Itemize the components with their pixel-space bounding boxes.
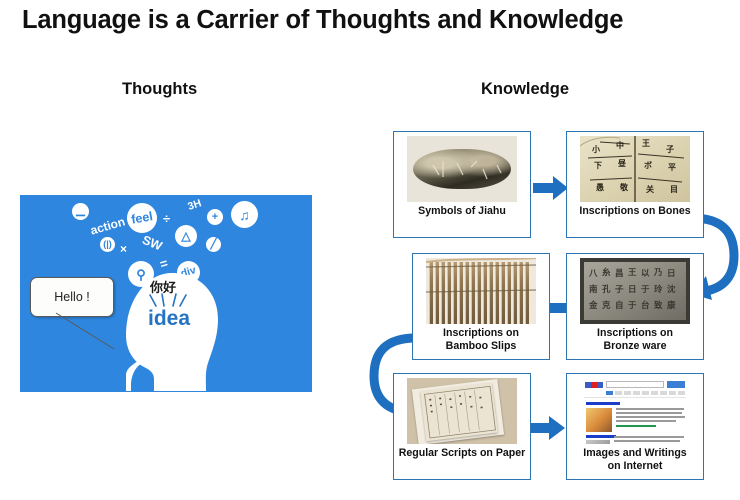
- search-input[interactable]: [606, 381, 664, 388]
- minus-circle-icon: ⚊: [72, 203, 89, 220]
- tab-extra-2[interactable]: [669, 391, 676, 395]
- tab-news[interactable]: [615, 391, 622, 395]
- card-regular-scripts-on-paper[interactable]: Regular Scripts on Paper: [393, 373, 531, 480]
- internet-thumbnail: [580, 378, 690, 444]
- card-caption: Symbols of Jiahu: [394, 205, 530, 218]
- multiply-symbol: ×: [120, 243, 127, 255]
- speech-bubble: Hello !: [30, 277, 114, 317]
- word-3h: 3H: [187, 198, 203, 212]
- card-inscriptions-on-bronze-ware[interactable]: 八 糸 昌 王 以 乃 日 南 孔 子 日 于 玲 沈 金 克 自 于 台 致 …: [566, 253, 704, 360]
- word-action: action: [89, 215, 126, 236]
- card-images-and-writings-on-internet[interactable]: Images and Writings on Internet: [566, 373, 704, 480]
- knowledge-heading: Knowledge: [481, 80, 569, 99]
- lamp-icon: △: [175, 225, 197, 247]
- card-inscriptions-on-bamboo-slips[interactable]: Inscriptions on Bamboo Slips: [412, 253, 550, 360]
- card-caption-line1: Inscriptions on: [413, 327, 549, 340]
- tab-extra-1[interactable]: [660, 391, 667, 395]
- card-caption: Inscriptions on Bamboo Slips: [413, 327, 549, 352]
- card-caption-line2: on Internet: [567, 460, 703, 473]
- card-caption: Inscriptions on Bones: [567, 205, 703, 218]
- arrow-paper-to-internet: [529, 414, 567, 442]
- jiahu-thumbnail: [407, 136, 517, 202]
- page-title: Language is a Carrier of Thoughts and Kn…: [22, 6, 623, 35]
- word-sw: SW: [140, 234, 163, 253]
- head-idea-label: idea: [148, 307, 190, 331]
- card-caption-line2: Bronze ware: [567, 340, 703, 353]
- pen-icon: ╱: [206, 237, 221, 252]
- word-feel: feel: [125, 201, 160, 236]
- tab-web[interactable]: [606, 391, 613, 395]
- card-caption: Images and Writings on Internet: [567, 447, 703, 472]
- slide-canvas: Language is a Carrier of Thoughts and Kn…: [0, 0, 740, 500]
- card-caption-line1: Images and Writings: [567, 447, 703, 460]
- bronze-thumbnail: 八 糸 昌 王 以 乃 日 南 孔 子 日 于 玲 沈 金 克 自 于 台 致 …: [580, 258, 690, 324]
- result-tabs[interactable]: [606, 391, 685, 395]
- music-note-icon: ♫: [231, 201, 258, 228]
- tab-video[interactable]: [633, 391, 640, 395]
- equals-symbol: =: [158, 256, 169, 271]
- tab-more[interactable]: [651, 391, 658, 395]
- bones-thumbnail: 小 中 王 子 下 昼 ボ 平 愚 敬 关 目: [580, 136, 690, 202]
- card-caption-line1: Inscriptions on: [567, 327, 703, 340]
- paper-thumbnail: [407, 378, 517, 444]
- card-caption: Inscriptions on Bronze ware: [567, 327, 703, 352]
- thoughts-illustration: ⚊ action feel ÷ 3H + ♫ △ SW × (|) ╱ = ⚲ …: [20, 195, 312, 392]
- divide-symbol: ÷: [163, 212, 170, 225]
- card-caption-line2: Bamboo Slips: [413, 340, 549, 353]
- search-logo-icon: [585, 382, 603, 388]
- card-caption: Regular Scripts on Paper: [387, 447, 537, 460]
- tab-images[interactable]: [624, 391, 631, 395]
- clip-icon: (|): [100, 237, 115, 252]
- plus-circle-icon: +: [207, 209, 223, 225]
- thoughts-heading: Thoughts: [122, 80, 197, 99]
- card-symbols-of-jiahu[interactable]: Symbols of Jiahu: [393, 131, 531, 238]
- card-inscriptions-on-bones[interactable]: 小 中 王 子 下 昼 ボ 平 愚 敬 关 目 Inscriptions on …: [566, 131, 704, 238]
- arrow-jiahu-to-bones: [533, 174, 569, 202]
- speech-bubble-tail: [56, 313, 118, 353]
- tab-extra-3[interactable]: [678, 391, 685, 395]
- tab-maps[interactable]: [642, 391, 649, 395]
- search-button[interactable]: [667, 381, 685, 388]
- bamboo-thumbnail: [426, 258, 536, 324]
